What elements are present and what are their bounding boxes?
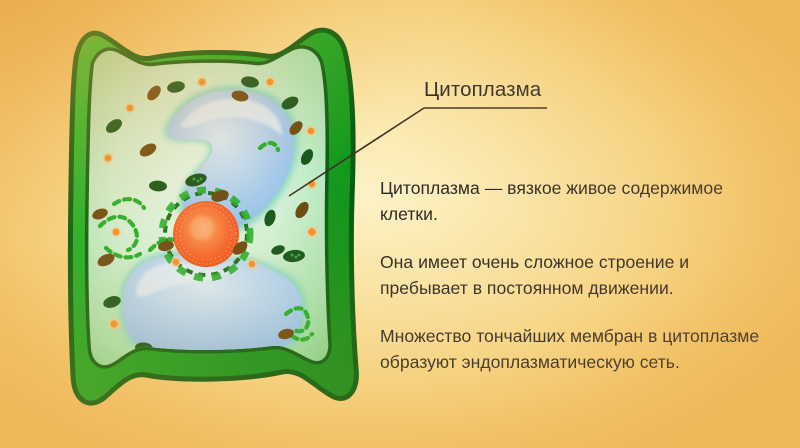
body-paragraph-3: Множество тончайших мембран в цитоплазме… (380, 324, 780, 375)
slide-canvas: Цитоплазма Цитоплазма — вязкое живое сод… (0, 0, 800, 448)
callout-label-cytoplasm: Цитоплазма (424, 78, 541, 102)
body-text-block: Цитоплазма — вязкое живое содержимое кле… (380, 176, 780, 375)
body-paragraph-2: Она имеет очень сложное строение и пребы… (380, 250, 780, 301)
plant-cell-diagram (54, 18, 374, 418)
body-paragraph-1: Цитоплазма — вязкое живое содержимое кле… (380, 176, 780, 227)
